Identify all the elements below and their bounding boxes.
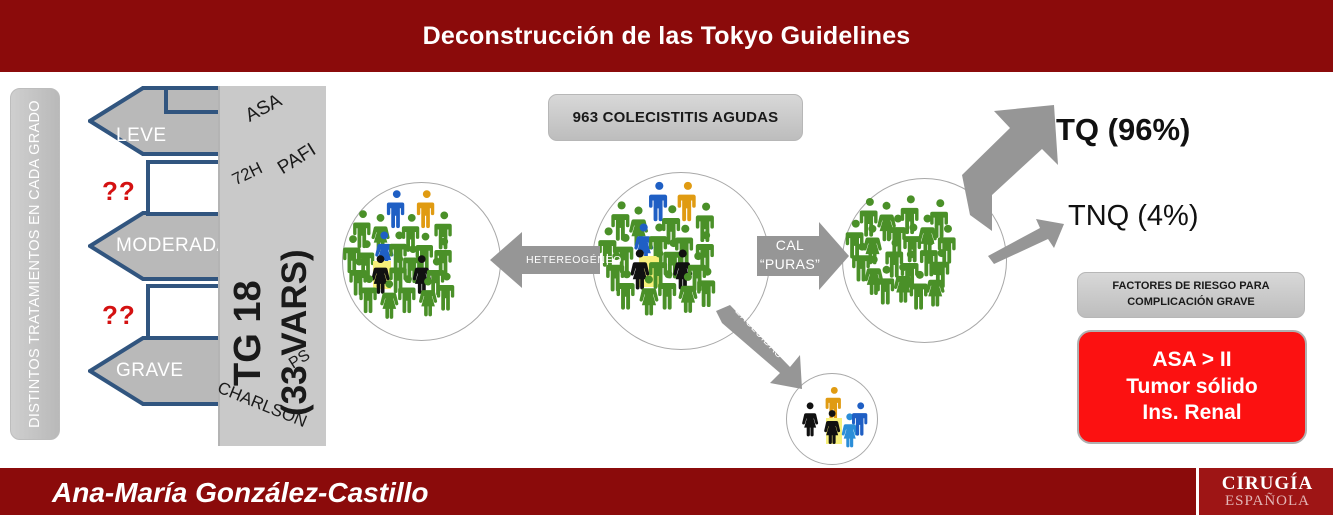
tg18-title: TG 18 [227,280,270,386]
risk-item-renal: Ins. Renal [1142,400,1241,426]
cohort-circle-heterogeneous [342,182,501,341]
tq-label: TQ (96%) [1056,112,1190,148]
arrow-right-icon [988,216,1066,264]
tg-variable-72h: 72H [229,158,266,190]
title-banner: Deconstrucción de las Tokyo Guidelines [0,0,1333,72]
risk-factors-line-1: FACTORES DE RIESGO PARA [1112,279,1269,295]
tg-variable-asa: ASA [242,90,286,127]
arrow-heterogeneous: HETEREOGÉNEO [490,230,600,295]
arrow-pure-label-2: “PURAS” [757,256,823,274]
people-group-icon [343,183,500,340]
arrow-excluded: EXCLUIDAS [716,305,826,405]
risk-item-asa: ASA > II [1152,347,1231,373]
tnq-label: TNQ (4%) [1068,200,1199,233]
arrow-heterogeneous-label: HETEREOGÉNEO [526,254,596,266]
risk-item-tumor: Tumor sólido [1126,374,1257,400]
arrow-tnq [988,216,1066,269]
arrow-pure-label-1: CAL [761,237,819,255]
cohort-chip-label: 963 COLECISTITIS AGUDAS [573,109,779,126]
tg18-panel: ASA PAFI 72H PS CHARLSON TG 18 (33 VARS) [218,86,326,446]
logo-title: CIRUGÍA [1222,474,1313,493]
tg-variable-pafi: PAFI [274,139,320,179]
risk-factors-line-2: COMPLICACIÓN GRAVE [1127,295,1255,311]
question-marks-1: ?? [102,176,136,207]
tg18-vars-count: (33 VARS) [275,249,315,416]
page-title: Deconstrucción de las Tokyo Guidelines [423,22,911,51]
author-name: Ana-María González-Castillo [52,477,429,509]
cohort-chip: 963 COLECISTITIS AGUDAS [548,94,803,141]
risk-factors-chip: FACTORES DE RIESGO PARA COMPLICACIÓN GRA… [1077,272,1305,318]
question-marks-2: ?? [102,300,136,331]
arrow-up-right-icon [958,103,1068,233]
arrow-pure: CAL “PURAS” [757,216,849,301]
cirugia-espanola-logo: CIRUGÍA ESPAÑOLA [1196,468,1333,515]
risk-factors-box: ASA > II Tumor sólido Ins. Renal [1077,330,1307,444]
footer-banner: Ana-María González-Castillo [0,468,1333,515]
treatments-vertical-label: DISTINTOS TRATAMIENTOS EN CADA GRADO [10,88,60,440]
treatments-vertical-label-text: DISTINTOS TRATAMIENTOS EN CADA GRADO [27,100,43,428]
logo-subtitle: ESPAÑOLA [1225,493,1310,510]
